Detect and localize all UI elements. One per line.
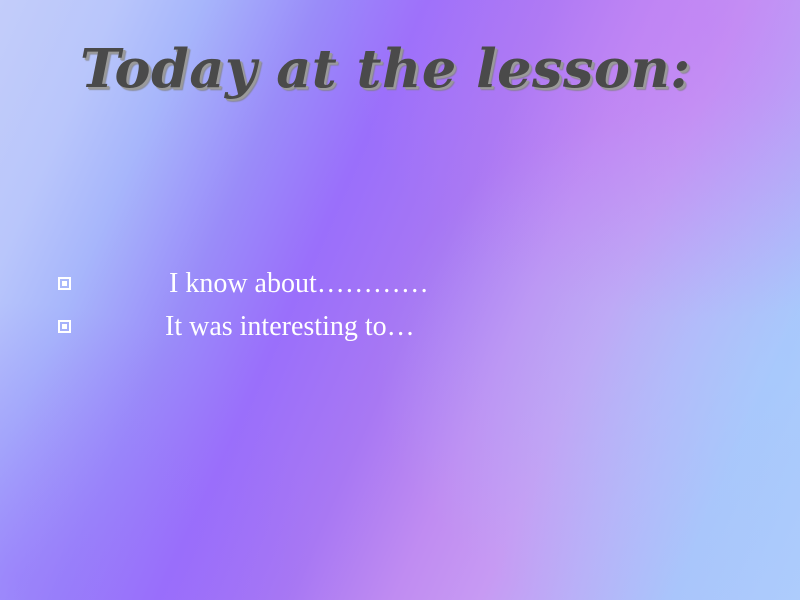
slide-content: Today at the lesson: I know about………… It…: [0, 0, 800, 600]
list-item-label: It was interesting to…: [165, 313, 415, 341]
bullet-list: I know about………… It was interesting to…: [0, 262, 800, 348]
list-item-label: I know about…………: [169, 270, 429, 298]
list-item: I know about…………: [0, 262, 800, 305]
presentation-slide: Today at the lesson: I know about………… It…: [0, 0, 800, 600]
list-item: It was interesting to…: [0, 305, 800, 348]
square-dot-bullet-icon: [58, 320, 71, 333]
slide-title: Today at the lesson:: [80, 42, 753, 98]
square-dot-bullet-icon: [58, 277, 71, 290]
